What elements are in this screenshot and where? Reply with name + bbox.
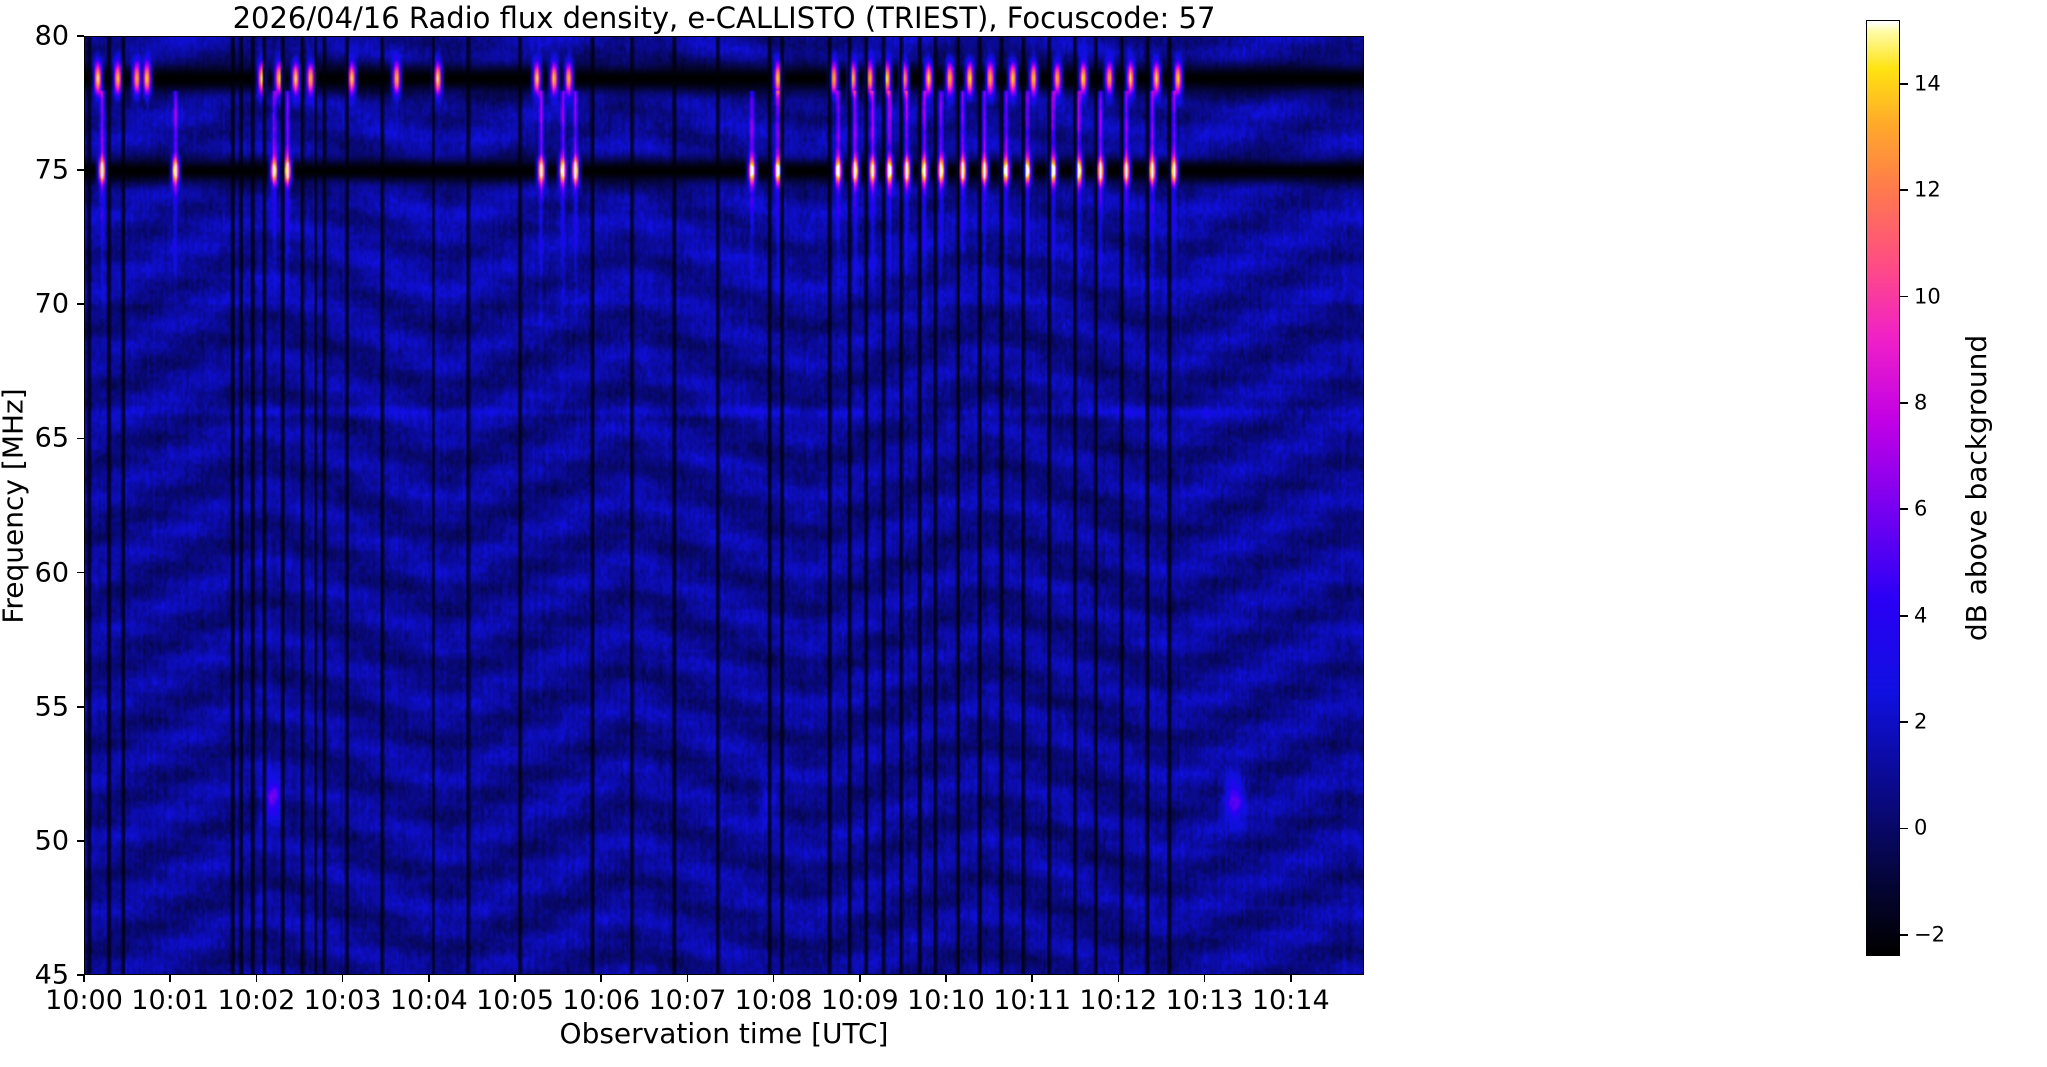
y-tick-mark	[77, 572, 84, 574]
spectrogram-axes[interactable]	[84, 36, 1364, 975]
colorbar-tick-mark	[1900, 828, 1908, 830]
x-tick-mark	[1031, 975, 1033, 982]
page-title: 2026/04/16 Radio flux density, e-CALLIST…	[84, 2, 1364, 34]
colorbar-tick-label: 6	[1914, 499, 1927, 520]
y-tick-label: 60	[0, 559, 69, 586]
y-tick-label: 50	[0, 827, 69, 854]
colorbar-tick-mark	[1900, 721, 1908, 723]
colorbar-tick-mark	[1900, 402, 1908, 404]
x-tick-mark	[428, 975, 430, 982]
x-tick-mark	[83, 975, 85, 982]
colorbar-tick-label: 2	[1914, 712, 1927, 733]
x-tick-mark	[859, 975, 861, 982]
x-tick-label: 10:12	[1079, 987, 1157, 1014]
x-tick-label: 10:11	[993, 987, 1071, 1014]
y-tick-label: 55	[0, 693, 69, 720]
colorbar-tick-label: 8	[1914, 392, 1927, 413]
x-tick-mark	[600, 975, 602, 982]
spectrogram-image	[85, 37, 1363, 974]
x-tick-mark	[169, 975, 171, 982]
x-tick-label: 10:06	[562, 987, 640, 1014]
colorbar-tick-label: 12	[1914, 180, 1941, 201]
colorbar-label: dB above background	[1955, 20, 1999, 956]
y-tick-mark	[77, 840, 84, 842]
colorbar[interactable]	[1866, 20, 1900, 956]
x-tick-mark	[1290, 975, 1292, 982]
x-tick-label: 10:05	[476, 987, 554, 1014]
y-tick-mark	[77, 303, 84, 305]
colorbar-tick-mark	[1900, 934, 1908, 936]
x-tick-mark	[342, 975, 344, 982]
x-tick-label: 10:04	[390, 987, 468, 1014]
x-tick-mark	[945, 975, 947, 982]
x-tick-mark	[1118, 975, 1120, 982]
x-tick-mark	[773, 975, 775, 982]
colorbar-tick-mark	[1900, 189, 1908, 191]
y-tick-label: 80	[0, 23, 69, 50]
x-tick-mark	[1204, 975, 1206, 982]
y-tick-mark	[77, 169, 84, 171]
colorbar-tick-label: 14	[1914, 73, 1941, 94]
y-tick-label: 65	[0, 425, 69, 452]
figure-canvas: 2026/04/16 Radio flux density, e-CALLIST…	[0, 0, 2047, 1067]
colorbar-tick-label: 4	[1914, 605, 1927, 626]
x-tick-mark	[514, 975, 516, 982]
y-tick-mark	[77, 35, 84, 37]
y-tick-mark	[77, 706, 84, 708]
x-tick-label: 10:03	[304, 987, 382, 1014]
x-tick-label: 10:13	[1166, 987, 1244, 1014]
colorbar-tick-mark	[1900, 508, 1908, 510]
colorbar-tick-label: −2	[1914, 924, 1945, 945]
colorbar-tick-mark	[1900, 296, 1908, 298]
y-tick-mark	[77, 438, 84, 440]
x-axis-label: Observation time [UTC]	[84, 1020, 1364, 1048]
y-axis-label-text: Frequency [MHz]	[0, 388, 28, 623]
x-tick-label: 10:01	[131, 987, 209, 1014]
x-tick-label: 10:07	[648, 987, 726, 1014]
x-tick-mark	[256, 975, 258, 982]
colorbar-gradient	[1867, 21, 1899, 955]
colorbar-tick-label: 10	[1914, 286, 1941, 307]
colorbar-tick-label: 0	[1914, 818, 1927, 839]
colorbar-tick-mark	[1900, 615, 1908, 617]
x-tick-label: 10:00	[45, 987, 123, 1014]
x-tick-label: 10:09	[821, 987, 899, 1014]
x-tick-label: 10:14	[1252, 987, 1330, 1014]
x-tick-label: 10:10	[907, 987, 985, 1014]
y-tick-label: 75	[0, 157, 69, 184]
colorbar-label-text: dB above background	[1963, 335, 1991, 641]
colorbar-tick-mark	[1900, 83, 1908, 85]
x-tick-label: 10:02	[217, 987, 295, 1014]
y-tick-label: 70	[0, 291, 69, 318]
x-tick-label: 10:08	[735, 987, 813, 1014]
x-tick-mark	[687, 975, 689, 982]
